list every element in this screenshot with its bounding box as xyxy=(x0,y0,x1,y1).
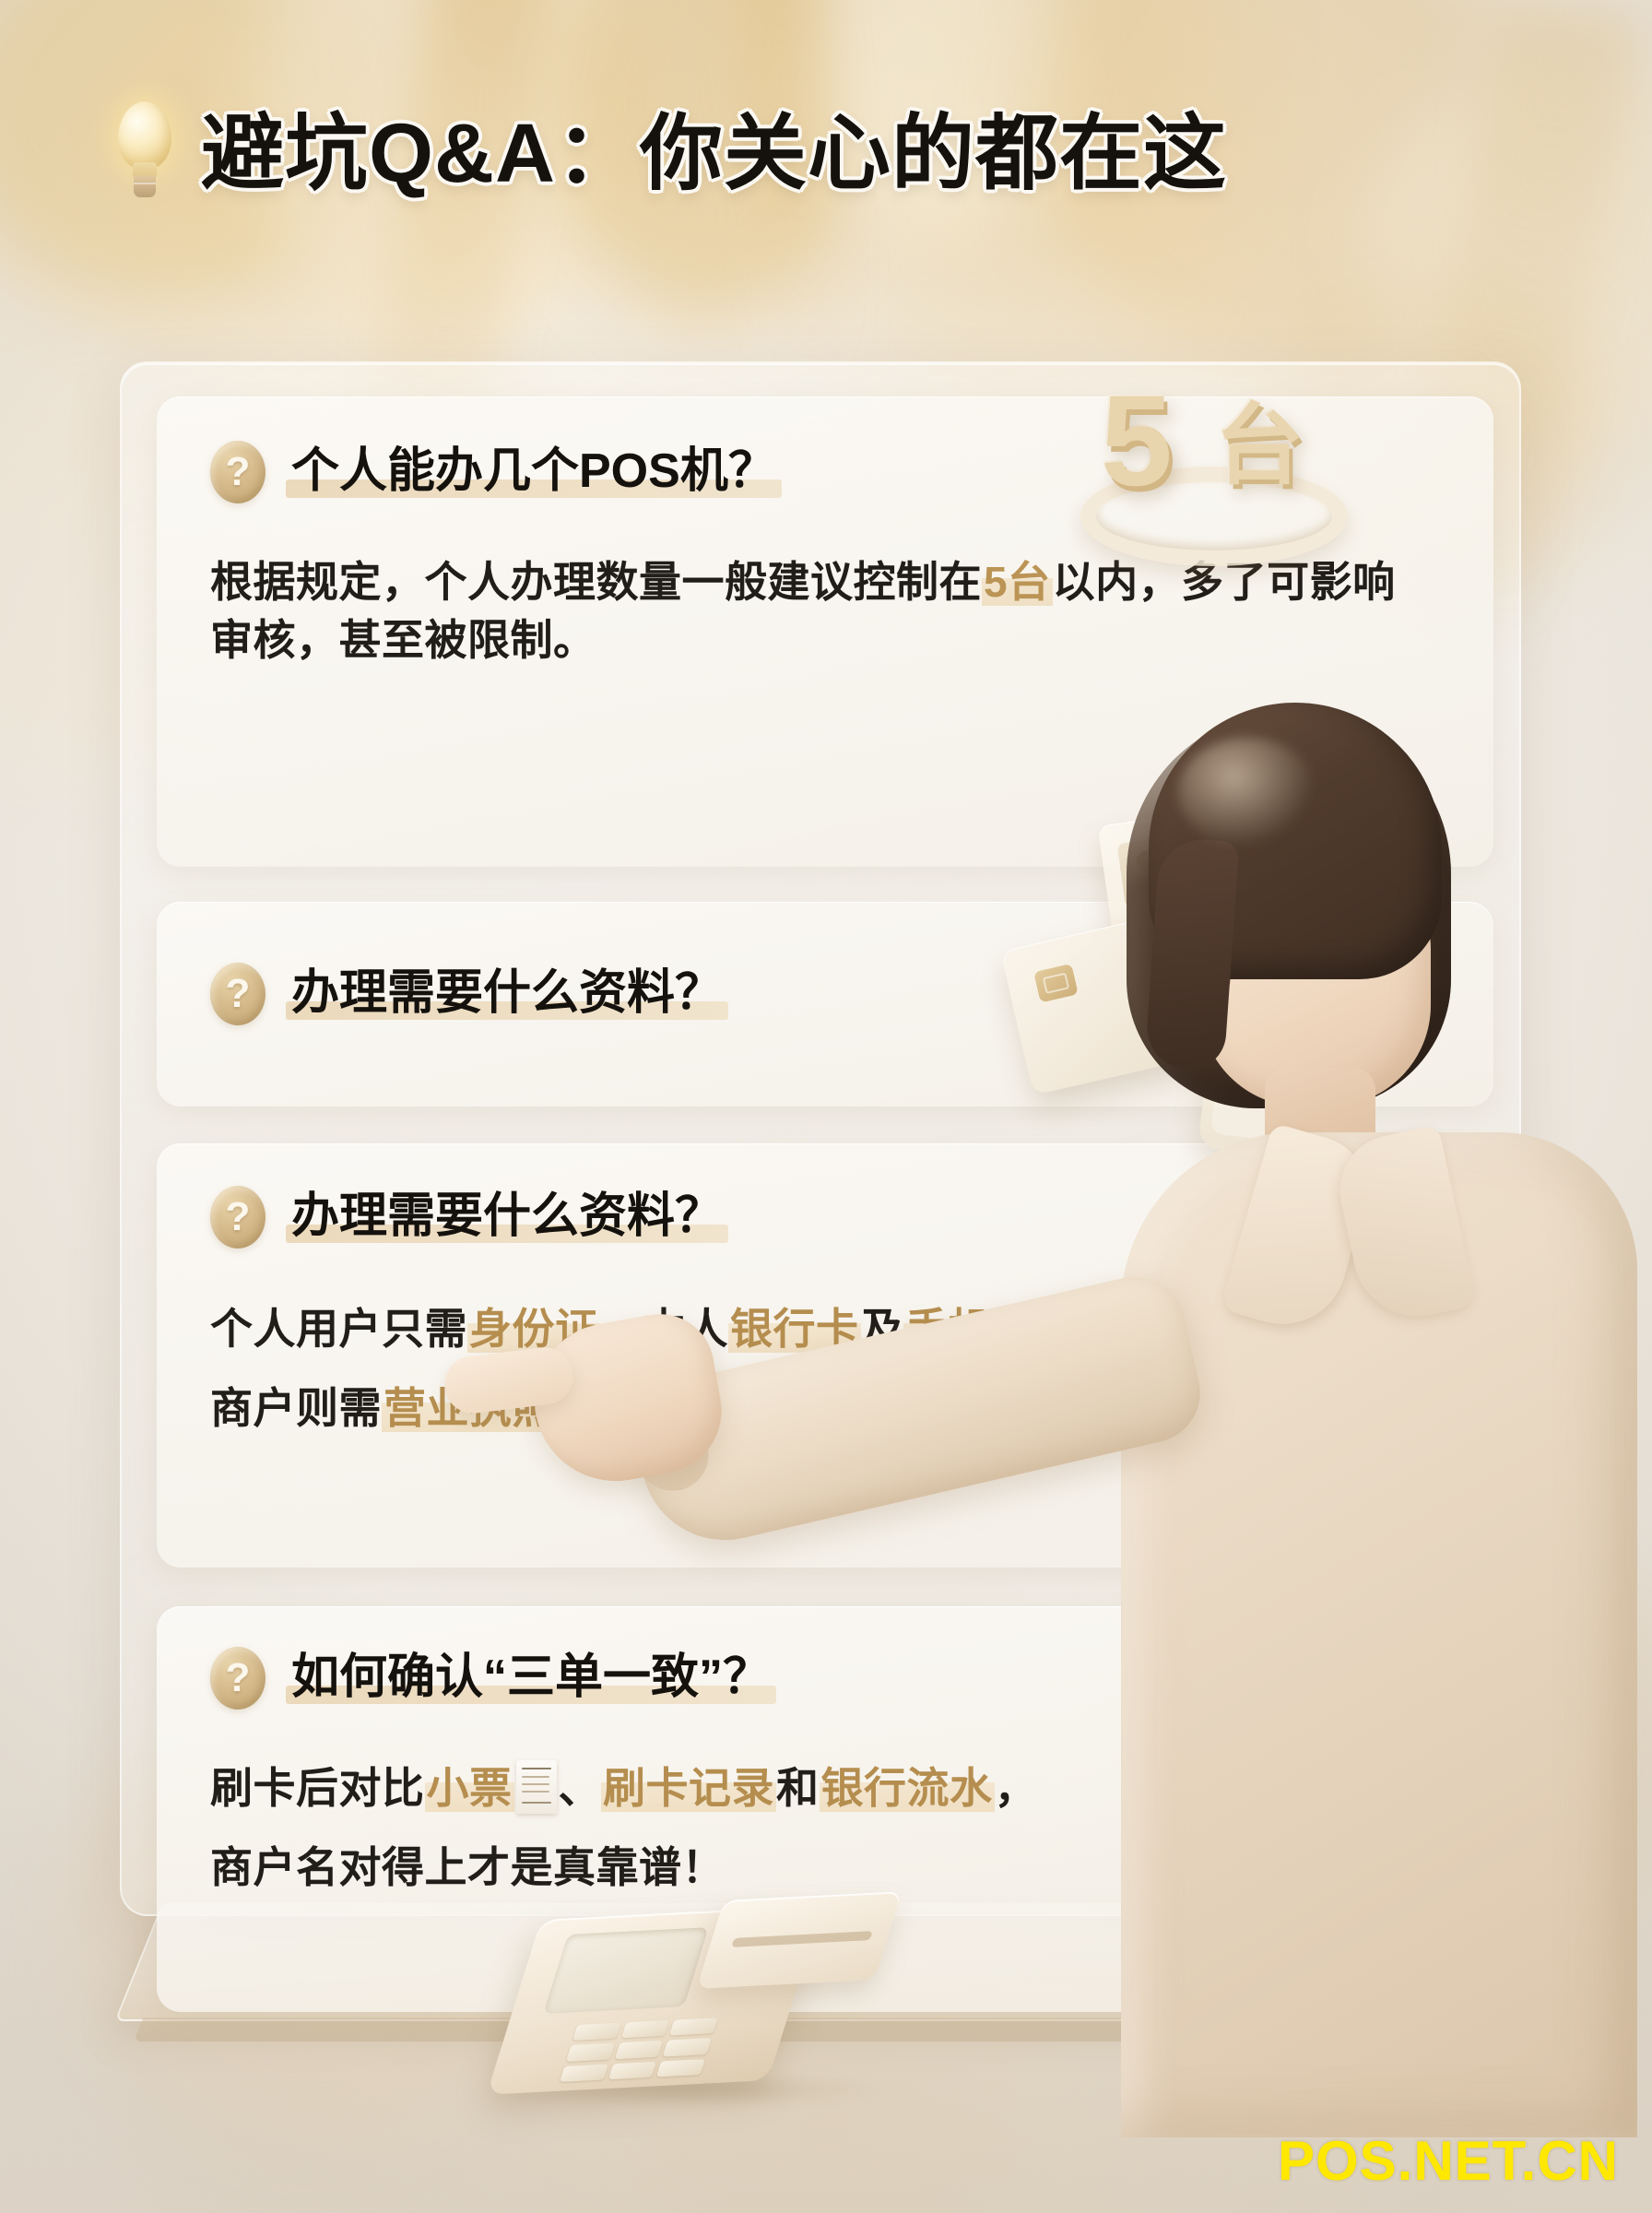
answer-text-part: 和 xyxy=(776,1764,820,1812)
answer-highlight: 小票 xyxy=(425,1764,514,1812)
five-units-3d-decor: 5 台 xyxy=(1060,369,1364,609)
question-mark-glyph: ? xyxy=(226,974,251,1014)
decor-unit-tai: 台 xyxy=(1215,402,1304,491)
receipt-icon xyxy=(516,1760,557,1814)
faq-card-header: ? 办理需要什么资料？ xyxy=(210,1186,728,1249)
pos-key xyxy=(669,2018,718,2036)
faq-question-text: 如何确认“三单一致”？ xyxy=(291,1651,771,1704)
question-mark-icon: ? xyxy=(210,1647,265,1710)
faq-question-title: 个人能办几个POS机？ xyxy=(286,444,782,500)
question-mark-icon: ? xyxy=(210,441,265,503)
watermark: POS.NET.CN xyxy=(1278,2129,1619,2193)
answer-text-part: 、 xyxy=(559,1764,602,1812)
pos-screen xyxy=(543,1927,708,2014)
character-hair-shine xyxy=(1178,738,1316,848)
answer-text-part: 商户则需 xyxy=(210,1384,382,1432)
answer-highlight: 5台 xyxy=(982,558,1053,606)
question-mark-glyph: ? xyxy=(226,452,251,492)
faq-question-text: 办理需要什么资料？ xyxy=(291,1189,723,1243)
faq-card-header: ? 如何确认“三单一致”？ xyxy=(210,1647,776,1710)
pos-key xyxy=(572,2023,621,2041)
lightbulb-base xyxy=(134,175,156,197)
decor-number-5: 5 xyxy=(1101,376,1173,505)
pos-key xyxy=(608,2061,657,2079)
pos-terminal-3d xyxy=(516,1881,959,2121)
character-illustration xyxy=(931,701,1652,2139)
answer-highlight: 刷卡记录 xyxy=(601,1764,776,1812)
answer-text-part: 根据规定，个人办理数量一般建议控制在 xyxy=(210,558,982,606)
lightbulb-icon xyxy=(111,100,179,208)
faq-question-title: 办理需要什么资料？ xyxy=(286,966,728,1022)
question-mark-glyph: ? xyxy=(226,1197,251,1237)
faq-question-text: 个人能办几个POS机？ xyxy=(291,444,776,498)
character-hair-strand xyxy=(1144,836,1239,1071)
faq-question-title: 如何确认“三单一致”？ xyxy=(286,1651,776,1706)
pos-key xyxy=(620,2020,669,2039)
question-mark-glyph: ? xyxy=(226,1658,251,1698)
answer-text-part: 刷卡后对比 xyxy=(210,1764,425,1812)
pos-key xyxy=(560,2064,608,2082)
question-mark-icon: ? xyxy=(210,963,265,1025)
pos-key xyxy=(615,2041,664,2059)
faq-question-text: 办理需要什么资料？ xyxy=(291,966,723,1020)
question-mark-icon: ? xyxy=(210,1186,265,1249)
pos-key xyxy=(566,2043,615,2062)
faq-question-title: 办理需要什么资料？ xyxy=(286,1189,728,1245)
lightbulb-glass xyxy=(118,101,171,170)
pos-key xyxy=(656,2059,705,2077)
answer-text-part: 个人用户只需 xyxy=(210,1305,467,1353)
faq-card-header: ? 个人能办几个POS机？ xyxy=(210,441,782,503)
pos-keypad xyxy=(560,2018,718,2082)
pos-key xyxy=(663,2038,712,2056)
page-title: 避坑Q&A：你关心的都在这 xyxy=(201,112,1227,195)
faq-card-header: ? 办理需要什么资料？ xyxy=(210,963,728,1025)
page-header: 避坑Q&A：你关心的都在这 xyxy=(111,100,1227,208)
